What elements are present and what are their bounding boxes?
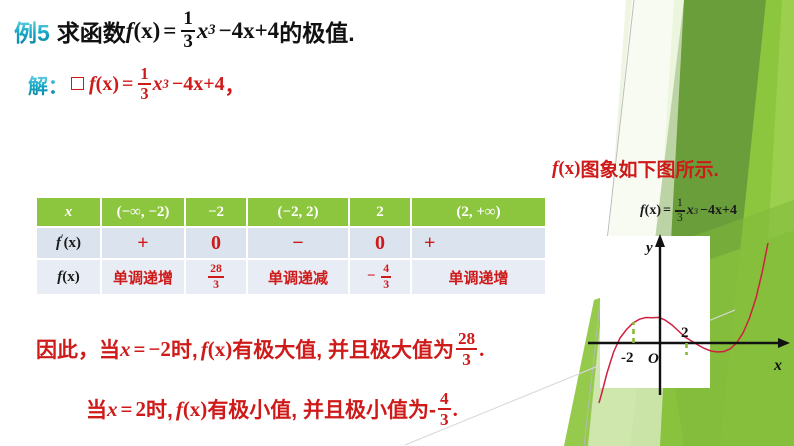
x-axis-arrow-icon bbox=[778, 338, 790, 348]
function-value-cell: 28 3 bbox=[186, 260, 246, 294]
x-axis-label: x bbox=[773, 357, 782, 374]
conclusion-line-min: 当 x = 2 时, f (x) 有极小值, 并且极小值为- 4 3 . bbox=[86, 390, 458, 428]
title-term-rest: −4x+4 bbox=[218, 18, 279, 44]
monotonicity-table: x (−∞, −2) −2 (−2, 2) 2 (2, +∞) f′(x) + … bbox=[35, 196, 547, 296]
page-title: 例5 求函数 f (x) = 1 3 x 3 −4x+4 的极值. bbox=[14, 10, 355, 52]
function-arg: (x) bbox=[62, 269, 80, 285]
because-box-icon bbox=[71, 77, 84, 90]
derivative-value-cell: 0 bbox=[186, 228, 246, 258]
table-header-cell: −2 bbox=[186, 198, 246, 226]
conclusion-when-2: 当 bbox=[86, 394, 107, 424]
title-prompt-prefix: 求函数 bbox=[57, 14, 126, 48]
solution-exponent: 3 bbox=[163, 77, 169, 92]
graph-formula-numerator: 1 bbox=[675, 198, 685, 209]
table-row-function: f(x) 单调递增 28 3 单调递减 − 4 3 单调递增 bbox=[37, 260, 545, 294]
conclusion-value-2: 2 bbox=[135, 397, 146, 422]
header-point-2: 2 bbox=[376, 204, 384, 220]
conclusion-statement-2: 有极小值, 并且极小值为- bbox=[207, 394, 436, 424]
solution-frac-numerator: 1 bbox=[138, 66, 150, 82]
conclusion-arg-1: (x) bbox=[208, 337, 233, 362]
function-value-cell: 单调递增 bbox=[412, 260, 545, 294]
function-value-cell: − 4 3 bbox=[350, 260, 410, 294]
conclusion-when-suffix-2: 时, bbox=[146, 394, 173, 424]
monotonic-increase-1: 单调递增 bbox=[113, 270, 173, 287]
graph-caption-text: 图象如下图所示. bbox=[580, 155, 718, 182]
derivative-value-cell: + bbox=[102, 228, 184, 258]
solution-term-x: x bbox=[153, 73, 163, 96]
monotonic-decrease: 单调递减 bbox=[268, 270, 328, 287]
cubic-curve bbox=[599, 243, 768, 403]
header-x: x bbox=[65, 204, 73, 220]
local-min-fraction: 4 3 bbox=[381, 263, 391, 290]
graph-formula-term-x: x bbox=[687, 203, 694, 219]
origin-label: O bbox=[648, 351, 659, 367]
graph-formula-fraction: 1 3 bbox=[675, 198, 685, 225]
table-header-cell: (−∞, −2) bbox=[102, 198, 184, 226]
graph-formula-arg: (x) bbox=[645, 203, 661, 219]
slide-canvas: 例5 求函数 f (x) = 1 3 x 3 −4x+4 的极值. 解： f (… bbox=[0, 0, 794, 446]
monotonic-increase-2: 单调递增 bbox=[448, 270, 508, 287]
conclusion-fn-2: f bbox=[176, 397, 183, 422]
derivative-row-label: f′(x) bbox=[37, 228, 100, 258]
header-point-1: −2 bbox=[208, 204, 224, 220]
title-fn-arg: (x) bbox=[133, 18, 160, 44]
local-min-sign: − bbox=[367, 268, 376, 284]
title-term-x: x bbox=[197, 18, 209, 44]
graph-formula-rest: −4x+4 bbox=[700, 203, 737, 219]
conclusion-arg-2: (x) bbox=[183, 397, 208, 422]
graph-caption-arg: (x) bbox=[558, 158, 580, 180]
graph-formula: f (x) = 1 3 x 3 −4x+4 bbox=[640, 198, 737, 225]
conclusion-eq-2: = bbox=[121, 397, 133, 422]
local-max-numerator: 28 bbox=[208, 263, 224, 275]
title-fraction: 1 3 bbox=[181, 10, 194, 52]
table-header-cell: (2, +∞) bbox=[412, 198, 545, 226]
solution-comma: ， bbox=[225, 70, 245, 99]
conclusion-lead: 因此， bbox=[36, 334, 99, 364]
solution-line: 解： f (x) = 1 3 x 3 −4x+4 ， bbox=[28, 66, 245, 103]
title-exponent: 3 bbox=[208, 22, 215, 39]
local-min-numerator: 4 bbox=[381, 263, 391, 275]
conclusion-fn-1: f bbox=[201, 337, 208, 362]
conclusion-eq-1: = bbox=[134, 337, 146, 362]
solution-fn-arg: (x) bbox=[96, 73, 119, 96]
table-header-cell: x bbox=[37, 198, 100, 226]
title-frac-numerator: 1 bbox=[181, 10, 194, 29]
header-interval-1: (−∞, −2) bbox=[117, 204, 170, 220]
solution-equals: = bbox=[122, 73, 133, 96]
tick-label-2: 2 bbox=[681, 325, 689, 341]
y-axis-arrow-icon bbox=[655, 234, 665, 247]
local-max-fraction: 28 3 bbox=[208, 263, 224, 290]
function-value-cell: 单调递减 bbox=[248, 260, 348, 294]
title-equals: = bbox=[163, 18, 176, 44]
derivative-value-cell: + bbox=[412, 228, 545, 258]
conclusion-var-2: x bbox=[107, 397, 118, 422]
function-row-label: f(x) bbox=[37, 260, 100, 294]
solution-fraction: 1 3 bbox=[138, 66, 150, 103]
derivative-sign-1: + bbox=[137, 232, 148, 254]
function-value-cell: 单调递增 bbox=[102, 260, 184, 294]
solution-fn-name: f bbox=[89, 73, 96, 96]
table-header-row: x (−∞, −2) −2 (−2, 2) 2 (2, +∞) bbox=[37, 198, 545, 226]
derivative-value-cell: 0 bbox=[350, 228, 410, 258]
graph-formula-denominator: 3 bbox=[675, 213, 685, 224]
conclusion-when-1: 当 bbox=[99, 334, 120, 364]
function-graph: y x -2 O 2 bbox=[588, 225, 794, 405]
solution-frac-denominator: 3 bbox=[138, 86, 150, 102]
example-label: 例5 bbox=[14, 14, 50, 48]
derivative-sign-5: + bbox=[424, 232, 435, 254]
solution-term-rest: −4x+4 bbox=[172, 73, 225, 96]
conclusion-var-1: x bbox=[120, 337, 131, 362]
table-header-cell: 2 bbox=[350, 198, 410, 226]
table-row-derivative: f′(x) + 0 − 0 + bbox=[37, 228, 545, 258]
y-axis-label: y bbox=[644, 240, 653, 256]
graph-formula-equals: = bbox=[663, 203, 671, 219]
conclusion-value-1: −2 bbox=[148, 337, 170, 362]
local-min-denominator: 3 bbox=[381, 279, 391, 291]
derivative-arg: (x) bbox=[64, 235, 82, 251]
graph-caption: f (x) 图象如下图所示. bbox=[552, 155, 719, 182]
tick-label-minus-2: -2 bbox=[621, 350, 634, 366]
header-interval-3: (2, +∞) bbox=[456, 204, 500, 220]
derivative-sign-3: − bbox=[292, 232, 303, 254]
header-interval-2: (−2, 2) bbox=[277, 204, 318, 220]
table-header-cell: (−2, 2) bbox=[248, 198, 348, 226]
derivative-sign-2: 0 bbox=[211, 232, 221, 254]
local-max-denominator: 3 bbox=[211, 279, 221, 291]
solution-label: 解： bbox=[28, 70, 68, 99]
title-prompt-suffix: 的极值. bbox=[279, 14, 354, 48]
derivative-sign-4: 0 bbox=[375, 232, 385, 254]
conclusion-when-suffix-1: 时, bbox=[171, 334, 198, 364]
title-fn-name: f bbox=[126, 18, 134, 44]
derivative-value-cell: − bbox=[248, 228, 348, 258]
title-frac-denominator: 3 bbox=[181, 33, 194, 52]
graph-formula-exponent: 3 bbox=[694, 206, 698, 216]
